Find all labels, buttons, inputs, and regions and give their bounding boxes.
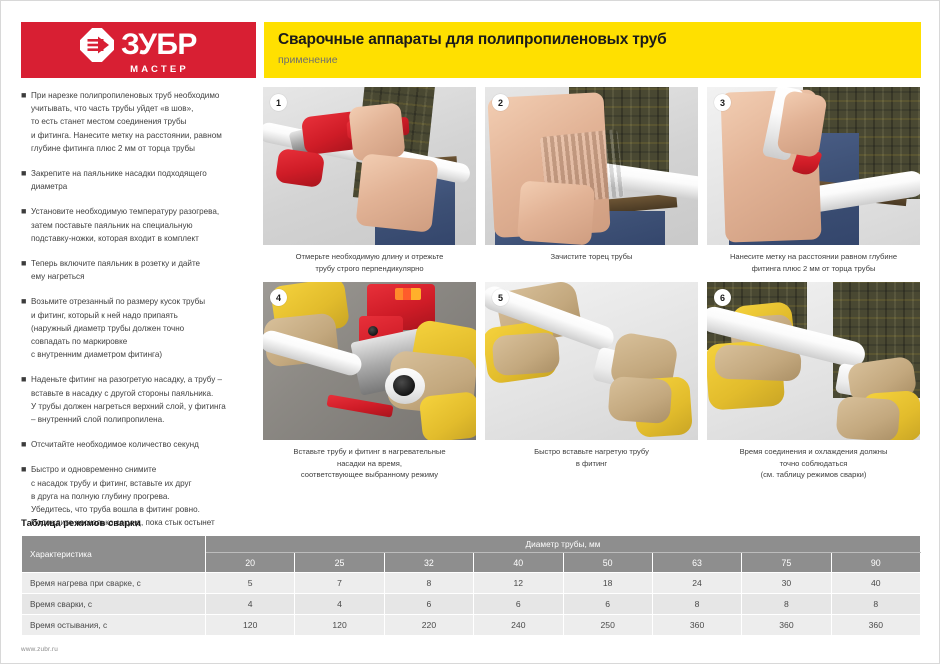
- photo-hand-upper: [348, 102, 405, 161]
- steps-gallery: 1 Отмерьте необходимую длину и отрежьте …: [263, 87, 921, 481]
- step-number-badge: 3: [714, 94, 731, 111]
- cell-value: 240: [474, 615, 563, 636]
- table-body: Время нагрева при сварке, с 5 7 8 12 18 …: [22, 573, 921, 636]
- step-number-badge: 4: [270, 289, 287, 306]
- header-diameter-50: 50: [563, 553, 652, 573]
- step-photo-5: 5: [485, 282, 698, 440]
- step-photo-2: 2: [485, 87, 698, 245]
- steps-row-top: 1 Отмерьте необходимую длину и отрежьте …: [263, 87, 921, 274]
- row-label: Время сварки, с: [22, 594, 206, 615]
- table-title: Таблица режимов сварки: [21, 518, 141, 529]
- step-caption-2: Зачистите торец трубы: [485, 245, 698, 263]
- brand-tagline: МАСТЕР: [130, 65, 189, 75]
- bullet-icon: ■: [21, 373, 31, 426]
- step-caption-3: Нанесите метку на расстоянии равном глуб…: [707, 245, 920, 274]
- cell-value: 40: [831, 573, 920, 594]
- cell-value: 360: [652, 615, 741, 636]
- step-caption-1: Отмерьте необходимую длину и отрежьте тр…: [263, 245, 476, 274]
- step-number-badge: 1: [270, 94, 287, 111]
- step-caption-4: Вставьте трубу и фитинг в нагревательные…: [263, 440, 476, 481]
- step-photo-6: 6: [707, 282, 920, 440]
- step-number-badge: 2: [492, 94, 509, 111]
- table-header-row-1: Характеристика Диаметр трубы, мм: [22, 536, 921, 553]
- table-head: Характеристика Диаметр трубы, мм 20 25 3…: [22, 536, 921, 573]
- cell-value: 6: [563, 594, 652, 615]
- cell-value: 6: [474, 594, 563, 615]
- bullet-icon: ■: [21, 257, 31, 283]
- step-caption-6: Время соединения и охлаждения должны точ…: [707, 440, 920, 481]
- step-card-4: 4 Вставьте трубу и фитинг в нагревательн…: [263, 282, 476, 481]
- steps-row-bottom: 4 Вставьте трубу и фитинг в нагревательн…: [263, 282, 921, 481]
- header-diameter-25: 25: [295, 553, 384, 573]
- footer-website-url[interactable]: www.zubr.ru: [21, 646, 58, 653]
- header-diameter-40: 40: [474, 553, 563, 573]
- cell-value: 120: [295, 615, 384, 636]
- cell-value: 5: [206, 573, 295, 594]
- photo-welder-switches: [395, 288, 421, 300]
- list-item-text: Установите необходимую температуру разог…: [31, 205, 253, 245]
- photo-glove-right-fingers: [836, 396, 901, 440]
- photo-glove-right-fingers: [608, 376, 673, 424]
- cell-value: 8: [742, 594, 831, 615]
- list-item: ■ Теперь включите паяльник в розетку и д…: [21, 257, 253, 283]
- step-caption-5: Быстро вставьте нагретую трубу в фитинг: [485, 440, 698, 469]
- photo-glove-left-palm: [492, 332, 561, 377]
- cell-value: 8: [652, 594, 741, 615]
- step-photo-3: 3: [707, 87, 920, 245]
- step-photo-1: 1: [263, 87, 476, 245]
- step-number-badge: 5: [492, 289, 509, 306]
- header-diameter-75: 75: [742, 553, 831, 573]
- step-card-1: 1 Отмерьте необходимую длину и отрежьте …: [263, 87, 476, 274]
- list-item: ■ Установите необходимую температуру раз…: [21, 205, 253, 245]
- page-header: ЗУБР МАСТЕР Сварочные аппараты для полип…: [21, 22, 921, 78]
- step-card-2: 2 Зачистите торец трубы: [485, 87, 698, 274]
- table-row: Время остывания, с 120 120 220 240 250 3…: [22, 615, 921, 636]
- row-label: Время остывания, с: [22, 615, 206, 636]
- cell-value: 7: [295, 573, 384, 594]
- header-characteristic: Характеристика: [22, 536, 206, 573]
- list-item: ■ Отсчитайте необходимое количество секу…: [21, 438, 253, 451]
- list-item-text: Наденьте фитинг на разогретую насадку, а…: [31, 373, 253, 426]
- list-item-text: Теперь включите паяльник в розетку и дай…: [31, 257, 253, 283]
- cell-value: 8: [384, 573, 473, 594]
- photo-stand-hole: [368, 326, 378, 336]
- step-photo-4: 4: [263, 282, 476, 440]
- header-diameter-20: 20: [206, 553, 295, 573]
- bullet-icon: ■: [21, 438, 31, 451]
- photo-hand-lower: [355, 153, 438, 233]
- list-item-text: Отсчитайте необходимое количество секунд: [31, 438, 253, 451]
- cell-value: 6: [384, 594, 473, 615]
- photo-fitting-bore: [393, 375, 415, 396]
- header-diameter-90: 90: [831, 553, 920, 573]
- cell-value: 4: [295, 594, 384, 615]
- welding-modes-table: Характеристика Диаметр трубы, мм 20 25 3…: [21, 535, 921, 636]
- list-item-text: При нарезке полипропиленовых труб необхо…: [31, 89, 253, 155]
- page-title: Сварочные аппараты для полипропиленовых …: [278, 31, 921, 50]
- cell-value: 220: [384, 615, 473, 636]
- header-diameter-group: Диаметр трубы, мм: [206, 536, 921, 553]
- header-diameter-63: 63: [652, 553, 741, 573]
- cell-value: 4: [206, 594, 295, 615]
- photo-fingers: [517, 180, 595, 245]
- table-row: Время сварки, с 4 4 6 6 6 8 8 8: [22, 594, 921, 615]
- step-card-3: 3 Нанесите метку на расстоянии равном гл…: [707, 87, 920, 274]
- cell-value: 30: [742, 573, 831, 594]
- row-label: Время нагрева при сварке, с: [22, 573, 206, 594]
- brand-logo: ЗУБР МАСТЕР: [21, 22, 256, 78]
- page-subtitle: применение: [278, 54, 921, 67]
- list-item: ■ Закрепите на паяльнике насадки подходя…: [21, 167, 253, 193]
- header-title-block: Сварочные аппараты для полипропиленовых …: [264, 22, 921, 78]
- bullet-icon: ■: [21, 89, 31, 155]
- bullet-icon: ■: [21, 295, 31, 361]
- cell-value: 24: [652, 573, 741, 594]
- cell-value: 18: [563, 573, 652, 594]
- list-item: ■ Возьмите отрезанный по размеру кусок т…: [21, 295, 253, 361]
- photo-glove-right-lower: [419, 391, 476, 440]
- header-diameter-32: 32: [384, 553, 473, 573]
- zubr-arrow-icon: [80, 28, 114, 62]
- list-item: ■ Наденьте фитинг на разогретую насадку,…: [21, 373, 253, 426]
- cell-value: 360: [831, 615, 920, 636]
- list-item-text: Возьмите отрезанный по размеру кусок тру…: [31, 295, 253, 361]
- step-card-5: 5 Быстро вставьте нагретую трубу в фитин…: [485, 282, 698, 481]
- step-number-badge: 6: [714, 289, 731, 306]
- cell-value: 360: [742, 615, 831, 636]
- cell-value: 250: [563, 615, 652, 636]
- bullet-icon: ■: [21, 205, 31, 245]
- photo-cutter-jaw: [275, 148, 325, 188]
- list-item-text: Закрепите на паяльнике насадки подходяще…: [31, 167, 253, 193]
- poster-page: ЗУБР МАСТЕР Сварочные аппараты для полип…: [0, 0, 940, 664]
- cell-value: 120: [206, 615, 295, 636]
- step-card-6: 6 Время соединения и охлаждения должны т…: [707, 282, 920, 481]
- table-row: Время нагрева при сварке, с 5 7 8 12 18 …: [22, 573, 921, 594]
- list-item: ■ При нарезке полипропиленовых труб необ…: [21, 89, 253, 155]
- cell-value: 8: [831, 594, 920, 615]
- bullet-icon: ■: [21, 167, 31, 193]
- brand-name: ЗУБР: [121, 30, 197, 60]
- instructions-list: ■ При нарезке полипропиленовых труб необ…: [21, 89, 253, 541]
- cell-value: 12: [474, 573, 563, 594]
